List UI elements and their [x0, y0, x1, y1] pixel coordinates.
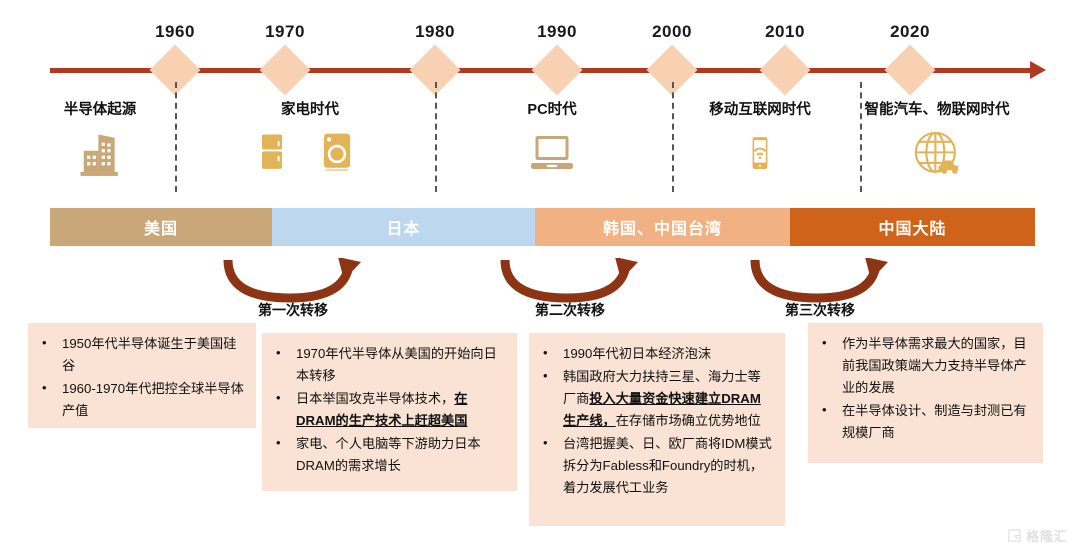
detail-list-item: 1990年代初日本经济泡沫	[535, 343, 773, 365]
timeline-year-2000: 2000	[627, 22, 717, 42]
transfer-arrow-2	[745, 258, 895, 304]
country-segment-3: 中国大陆	[790, 208, 1035, 246]
timeline-infographic: 1960197019801990200020102020 半导体起源 家电时代	[0, 0, 1080, 553]
laptop-icon	[524, 130, 580, 183]
body-text: 台湾把握美、日、欧厂商将IDM模式拆分为Fabless和Foundry的时机，着…	[563, 436, 772, 495]
body-text: 家电、个人电脑等下游助力日本DRAM的需求增长	[296, 436, 481, 473]
timeline-marker-1990	[532, 45, 583, 96]
timeline-year-2020: 2020	[865, 22, 955, 42]
detail-box-2: 1990年代初日本经济泡沫韩国政府大力扶持三星、海力士等厂商投入大量资金快速建立…	[529, 333, 785, 526]
transfer-label-0: 第一次转移	[208, 300, 378, 320]
body-text: 1960-1970年代把控全球半导体产值	[62, 381, 244, 418]
transfer-label-2: 第三次转移	[735, 300, 905, 320]
timeline-marker-2020	[885, 45, 936, 96]
body-text: 在半导体设计、制造与封测已有规模厂商	[842, 403, 1027, 440]
timeline-year-1970: 1970	[240, 22, 330, 42]
country-segment-label: 韩国、中国台湾	[603, 215, 722, 239]
detail-list-item: 韩国政府大力扶持三星、海力士等厂商投入大量资金快速建立DRAM生产线，在存储市场…	[535, 366, 773, 432]
timeline-year-1960: 1960	[130, 22, 220, 42]
transfer-arrow-0	[218, 258, 368, 304]
detail-list-item: 日本举国攻克半导体技术，在DRAM的生产技术上赶超美国	[268, 388, 505, 432]
detail-box-0: 1950年代半导体诞生于美国硅谷1960-1970年代把控全球半导体产值	[28, 323, 256, 428]
body-text: 1970年代半导体从美国的开始向日本转移	[296, 346, 497, 383]
watermark-text: 格隆汇	[1026, 526, 1068, 545]
timeline-marker-1970	[260, 45, 311, 96]
country-segment-2: 韩国、中国台湾	[535, 208, 790, 246]
detail-list-item: 作为半导体需求最大的国家，目前我国政策端大力支持半导体产业的发展	[814, 333, 1031, 399]
detail-list: 1990年代初日本经济泡沫韩国政府大力扶持三星、海力士等厂商投入大量资金快速建立…	[535, 343, 773, 499]
detail-list: 1950年代半导体诞生于美国硅谷1960-1970年代把控全球半导体产值	[34, 333, 244, 422]
country-segment-label: 日本	[386, 215, 420, 239]
era-label-1: 家电时代	[200, 98, 420, 119]
timeline-year-2010: 2010	[740, 22, 830, 42]
refrigerator-icon	[252, 126, 358, 178]
detail-list-item: 家电、个人电脑等下游助力日本DRAM的需求增长	[268, 433, 505, 477]
timeline-year-1990: 1990	[512, 22, 602, 42]
detail-list-item: 台湾把握美、日、欧厂商将IDM模式拆分为Fabless和Foundry的时机，着…	[535, 433, 773, 499]
era-label-2: PC时代	[442, 98, 662, 119]
country-segment-label: 中国大陆	[878, 215, 946, 239]
building-icon	[74, 128, 126, 185]
era-label-4: 智能汽车、物联网时代	[827, 98, 1047, 119]
watermark: 格隆汇	[1007, 526, 1068, 545]
smartphone-wifi-icon	[743, 126, 777, 185]
transfer-label-1: 第二次转移	[485, 300, 655, 320]
detail-box-1: 1970年代半导体从美国的开始向日本转移日本举国攻克半导体技术，在DRAM的生产…	[262, 333, 517, 491]
era-divider-1	[435, 82, 437, 192]
era-label-0: 半导体起源	[0, 98, 210, 119]
logo-icon	[1007, 528, 1022, 543]
detail-list-item: 1960-1970年代把控全球半导体产值	[34, 378, 244, 422]
detail-list: 1970年代半导体从美国的开始向日本转移日本举国攻克半导体技术，在DRAM的生产…	[268, 343, 505, 477]
detail-box-3: 作为半导体需求最大的国家，目前我国政策端大力支持半导体产业的发展在半导体设计、制…	[808, 323, 1043, 463]
timeline-marker-2010	[760, 45, 811, 96]
body-text: 日本举国攻克半导体技术，	[296, 391, 454, 406]
globe-car-icon	[909, 128, 965, 185]
country-segment-0: 美国	[50, 208, 272, 246]
body-text: 1950年代半导体诞生于美国硅谷	[62, 336, 236, 373]
detail-list: 作为半导体需求最大的国家，目前我国政策端大力支持半导体产业的发展在半导体设计、制…	[814, 333, 1031, 444]
detail-list-item: 在半导体设计、制造与封测已有规模厂商	[814, 400, 1031, 444]
transfer-arrow-1	[495, 258, 645, 304]
detail-list-item: 1970年代半导体从美国的开始向日本转移	[268, 343, 505, 387]
timeline-axis-arrowhead	[1030, 61, 1046, 79]
detail-list-item: 1950年代半导体诞生于美国硅谷	[34, 333, 244, 377]
country-segment-label: 美国	[144, 215, 178, 239]
country-segment-1: 日本	[272, 208, 535, 246]
body-text: 1990年代初日本经济泡沫	[563, 346, 711, 361]
body-text: 在存储市场确立优势地位	[616, 413, 761, 428]
body-text: 作为半导体需求最大的国家，目前我国政策端大力支持半导体产业的发展	[842, 336, 1027, 395]
timeline-year-1980: 1980	[390, 22, 480, 42]
